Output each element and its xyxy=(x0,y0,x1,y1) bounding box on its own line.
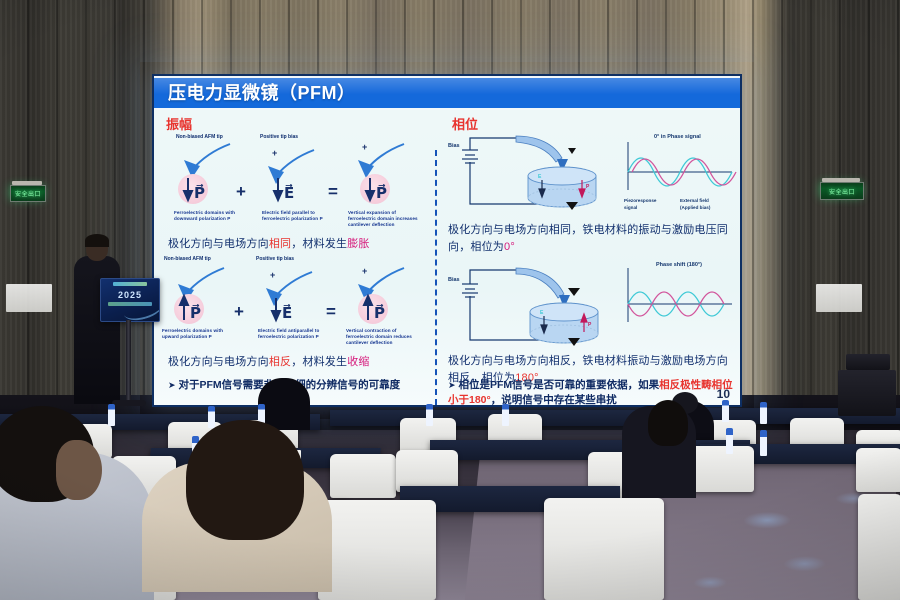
presenter-hair xyxy=(85,234,109,247)
phase-block2-bias-label: Bias xyxy=(448,277,460,283)
wall-banner-right xyxy=(816,284,862,312)
row1-caption-a: Ferroelectric domains with downward pola… xyxy=(174,210,240,222)
svg-text:External field: External field xyxy=(680,198,709,203)
phase-block1-text: 极化方向与电场方向相同，铁电材料的振动与激励电压同向，相位为0° xyxy=(448,222,728,255)
podium: 2025 xyxy=(100,278,160,322)
svg-text:+: + xyxy=(362,266,367,276)
av-equipment-2 xyxy=(846,354,890,370)
chair-mid-6 xyxy=(856,448,900,492)
row1-symbols: P⃗ E⃗ P⃗ + = xyxy=(152,172,435,206)
svg-text:P⃗: P⃗ xyxy=(376,183,387,202)
podium-base xyxy=(112,400,146,406)
row2-summary-pre: 极化方向与电场方向 xyxy=(168,356,269,368)
row2-summary-mid: ，材料发生 xyxy=(291,356,347,368)
exit-sign-left: 安全出口 xyxy=(10,185,44,200)
bottle-1 xyxy=(108,404,115,426)
bottle-5 xyxy=(502,404,509,426)
right-bullet-rest: ，说明信号中存在某些串扰 xyxy=(491,394,617,406)
slide-title: 压电力显微镜（PFM） xyxy=(168,79,356,105)
svg-text:+: + xyxy=(272,148,277,158)
right-bullet-red1: 相反 xyxy=(659,379,680,391)
chair-mid-5 xyxy=(688,446,754,492)
row1-summary-hl2: 膨胀 xyxy=(347,238,369,250)
svg-text:+: + xyxy=(236,182,246,201)
podium-stand xyxy=(126,320,131,404)
svg-text:E⃗: E⃗ xyxy=(282,303,292,322)
chair-front-2 xyxy=(318,500,436,600)
phase-block2-diagram: Bias E P xyxy=(442,262,742,358)
bottle-6 xyxy=(722,400,729,422)
row2-symbols: P⃗ E⃗ P⃗ + = xyxy=(152,292,435,326)
amplitude-heading: 振幅 xyxy=(166,114,192,133)
row1-caption-c: Vertical expansion of ferroelectric doma… xyxy=(348,210,424,229)
bottle-4 xyxy=(426,404,433,426)
row1-summary-mid: ，材料发生 xyxy=(291,238,347,250)
bottle-10 xyxy=(726,428,733,454)
row2-summary: 极化方向与电场方向相反，材料发生收缩 xyxy=(168,353,370,369)
phase-block2-chart-title: Phase shift (180°) xyxy=(656,262,702,268)
slide-body: 振幅 Non-biased AFM tip Positive tip bias … xyxy=(152,110,742,405)
podium-logo-icon xyxy=(113,282,147,286)
phase-block1-text-pre: 极化方向与电场方向相同，铁电材料的振动与激励电压同向，相位为 xyxy=(448,224,728,253)
audience-person-mid-hair xyxy=(648,400,688,446)
audience-person-front-mid-hair xyxy=(186,420,304,540)
bottle-11 xyxy=(760,430,767,456)
slide-divider xyxy=(435,150,437,405)
svg-text:P⃗: P⃗ xyxy=(374,303,385,322)
phase-block1-chart-title: 0° in Phase signal xyxy=(654,134,701,140)
right-bullet-pre: 相位是PFM信号是否可靠的重要依据，如果 xyxy=(458,379,659,391)
exit-sign-left-label: 安全出口 xyxy=(15,189,41,198)
row2-summary-hl1: 相反 xyxy=(269,356,291,368)
svg-text:+: + xyxy=(362,142,367,152)
svg-text:+: + xyxy=(270,270,275,280)
svg-text:E⃗: E⃗ xyxy=(284,183,294,202)
bottle-7 xyxy=(760,402,767,424)
bottle-2 xyxy=(208,406,215,428)
wall-banner-left xyxy=(6,284,52,312)
svg-text:P⃗: P⃗ xyxy=(194,183,205,202)
row1-summary: 极化方向与电场方向相同，材料发生膨胀 xyxy=(168,235,370,251)
svg-text:=: = xyxy=(326,302,336,321)
row2-summary-hl2: 收缩 xyxy=(347,356,369,368)
svg-text:signal: signal xyxy=(624,205,637,210)
svg-text:=: = xyxy=(328,182,338,201)
row2-caption-c: Vertical contraction of ferroelectric do… xyxy=(346,328,424,347)
row1-summary-pre: 极化方向与电场方向 xyxy=(168,238,269,250)
chair-front-3 xyxy=(544,498,664,600)
slide-page-number: 10 xyxy=(717,387,730,401)
row2-caption-a: Ferroelectric domains with upward polari… xyxy=(162,328,238,340)
svg-text:P⃗: P⃗ xyxy=(190,303,201,322)
chair-mid-2 xyxy=(330,454,396,498)
podium-year: 2025 xyxy=(118,290,142,300)
svg-text:(Applied bias): (Applied bias) xyxy=(680,205,711,210)
conference-room-photo: 安全出口 安全出口 压电力显微镜（PFM） 振幅 Non-biased AFM … xyxy=(0,0,900,600)
phase-block1-bias-label: Bias xyxy=(448,143,460,149)
av-equipment xyxy=(838,370,896,416)
row1-caption-b: Electric field parallel to ferroelectric… xyxy=(262,210,334,222)
svg-text:+: + xyxy=(234,302,244,321)
exit-sign-right-label: 安全出口 xyxy=(829,187,855,196)
row2-caption-b: Electric field antiparallel to ferroelec… xyxy=(258,328,332,340)
presentation-screen: 压电力显微镜（PFM） 振幅 Non-biased AFM tip Positi… xyxy=(152,74,742,407)
exit-sign-right: 安全出口 xyxy=(820,182,862,198)
audience-person-front-left-face xyxy=(56,440,102,500)
svg-text:Piezoresponse: Piezoresponse xyxy=(624,198,657,203)
chair-front-4 xyxy=(858,494,900,600)
row1-summary-hl1: 相同 xyxy=(269,238,291,250)
phase-block1-text-hl: 0° xyxy=(504,241,515,253)
phase-block1-diagram: Bias E P xyxy=(442,128,742,220)
